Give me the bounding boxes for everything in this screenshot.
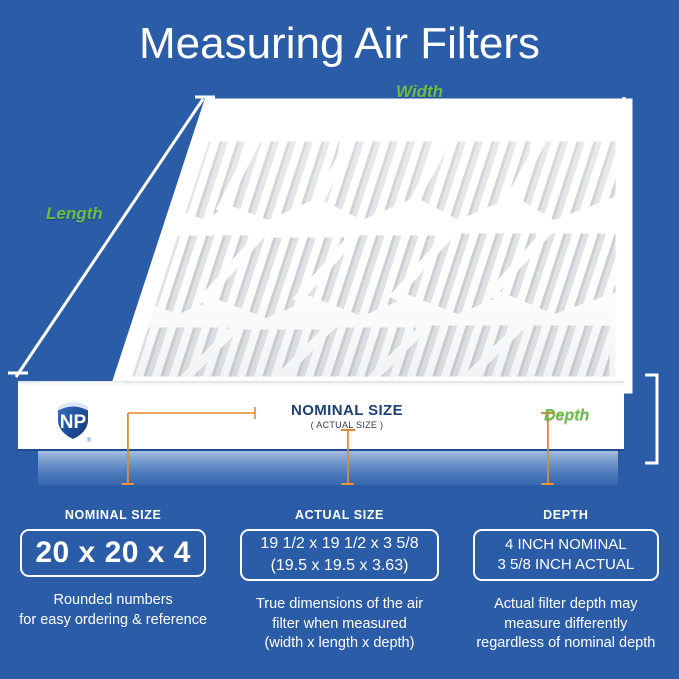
column-depth: DEPTH 4 INCH NOMINAL 3 5/8 INCH ACTUAL A… — [453, 508, 679, 654]
actual-size-value-box: 19 1/2 x 19 1/2 x 3 5/8 (19.5 x 19.5 x 3… — [240, 529, 438, 581]
column-caption: Rounded numbers for easy ordering & refe… — [6, 591, 220, 630]
caption-line: True dimensions of the air — [232, 595, 446, 615]
actual-size-value-fraction: 19 1/2 x 19 1/2 x 3 5/8 — [260, 533, 418, 555]
column-heading: NOMINAL SIZE — [6, 508, 220, 522]
np-brand-logo: NP ® — [52, 398, 94, 444]
caption-line: for easy ordering & reference — [6, 611, 220, 631]
infographic-page: Measuring Air Filters — [0, 0, 679, 679]
depth-value-box: 4 INCH NOMINAL 3 5/8 INCH ACTUAL — [473, 529, 659, 581]
nominal-size-value-box: 20 x 20 x 4 — [20, 529, 206, 577]
caption-line: measure differently — [459, 615, 673, 635]
np-logo-text: NP — [60, 412, 87, 433]
caption-line: Rounded numbers — [6, 591, 220, 611]
dimension-label-depth: Depth — [544, 407, 589, 425]
column-caption: True dimensions of the air filter when m… — [232, 595, 446, 654]
column-caption: Actual filter depth may measure differen… — [459, 595, 673, 654]
summary-columns: NOMINAL SIZE 20 x 20 x 4 Rounded numbers… — [0, 508, 679, 654]
registered-mark: ® — [87, 437, 92, 444]
nominal-size-callout-heading: NOMINAL SIZE — [262, 402, 432, 419]
column-actual-size: ACTUAL SIZE 19 1/2 x 19 1/2 x 3 5/8 (19.… — [226, 508, 452, 654]
dimension-label-width: Width — [396, 82, 443, 102]
nominal-size-callout-subheading: ( ACTUAL SIZE ) — [262, 420, 432, 430]
actual-size-value-decimal: (19.5 x 19.5 x 3.63) — [271, 555, 409, 577]
nominal-size-callout: NOMINAL SIZE ( ACTUAL SIZE ) — [262, 402, 432, 430]
caption-line: Actual filter depth may — [459, 595, 673, 615]
column-heading: ACTUAL SIZE — [232, 508, 446, 522]
page-title: Measuring Air Filters — [0, 22, 679, 66]
depth-actual-value: 3 5/8 INCH ACTUAL — [497, 555, 634, 575]
caption-line: regardless of nominal depth — [459, 634, 673, 654]
nominal-size-value: 20 x 20 x 4 — [35, 538, 191, 568]
column-heading: DEPTH — [459, 508, 673, 522]
caption-line: (width x length x depth) — [232, 634, 446, 654]
column-nominal-size: NOMINAL SIZE 20 x 20 x 4 Rounded numbers… — [0, 508, 226, 654]
depth-bracket — [645, 375, 657, 463]
caption-line: filter when measured — [232, 615, 446, 635]
dimension-label-length: Length — [46, 204, 103, 224]
depth-nominal-value: 4 INCH NOMINAL — [505, 535, 627, 555]
